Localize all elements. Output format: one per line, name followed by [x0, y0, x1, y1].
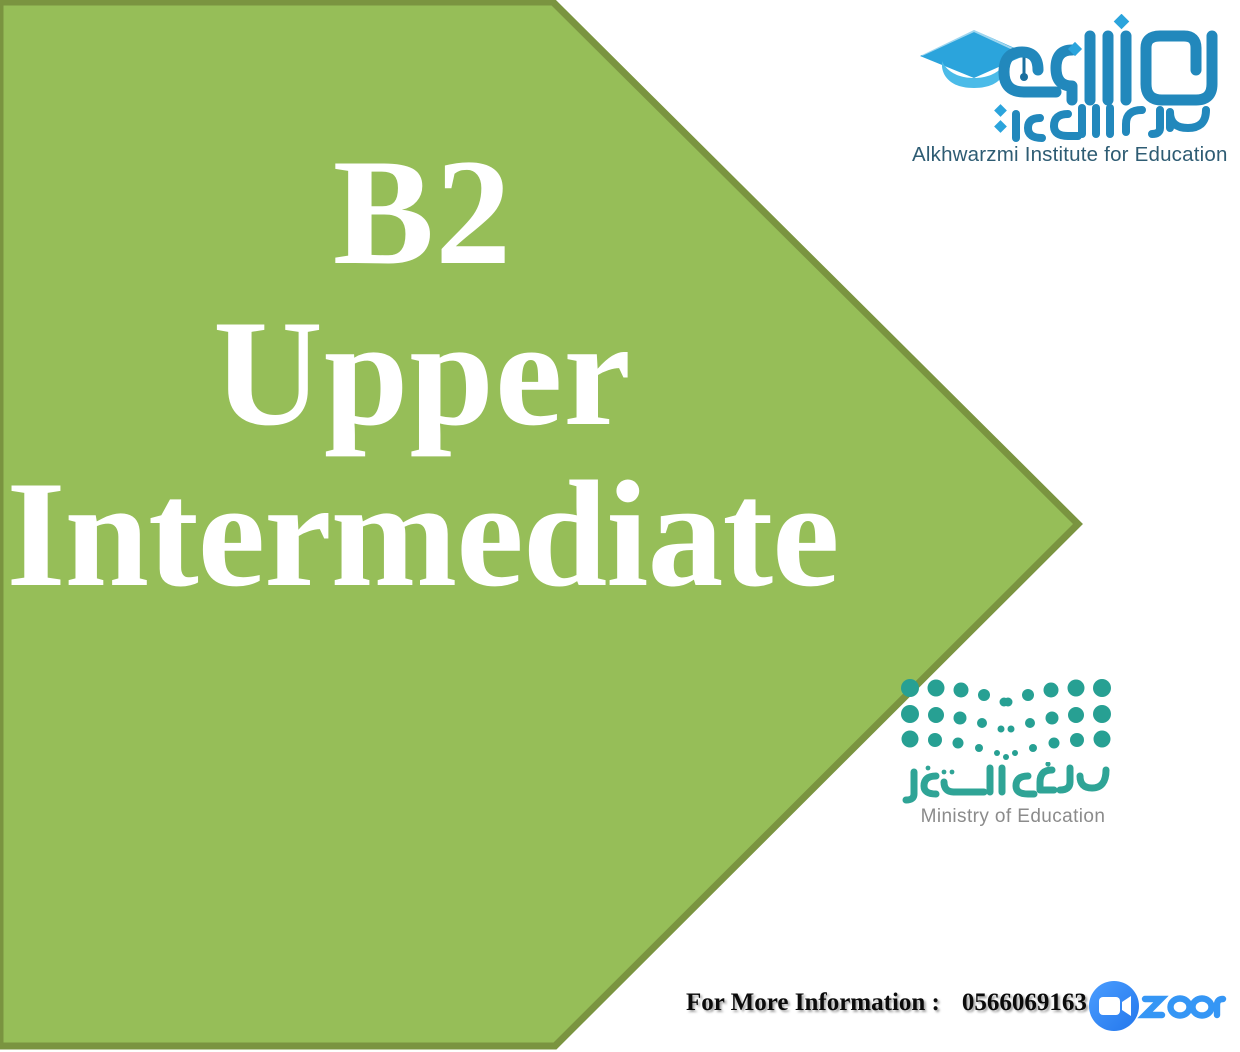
course-title-line-1: B2: [0, 138, 845, 287]
ministry-english-name: Ministry of Education: [898, 806, 1128, 828]
course-title-line-2: Upper: [0, 299, 845, 448]
contact-phone-number: 0566069163: [962, 989, 1087, 1017]
more-information-label: For More Information :: [686, 989, 940, 1017]
footer-contact: For More Information : 0566069163: [686, 989, 1087, 1017]
moe-dot-chevron-icon: [898, 676, 1114, 760]
course-title-line-3: Intermediate: [0, 460, 845, 609]
institute-logo: Alkhwarzmi Institute for Education: [912, 14, 1224, 167]
zoom-logo: [1087, 979, 1227, 1033]
poster-canvas: B2 Upper Intermediate: [0, 0, 1240, 1052]
ministry-arabic-wordmark: [898, 762, 1114, 804]
ministry-logo: Ministry of Education: [898, 676, 1128, 828]
institute-tagline: Alkhwarzmi Institute for Education: [912, 143, 1224, 167]
alkhwarzmi-logo-mark: [912, 14, 1224, 142]
zoom-wordmark: [1145, 999, 1223, 1016]
alkhwarzmi-arabic-subline: [1016, 108, 1206, 138]
alkhwarzmi-accent-dots: [994, 104, 1007, 133]
alkhwarzmi-arabic-wordmark: [1004, 36, 1212, 100]
zoom-video-camera-icon: [1089, 981, 1139, 1031]
alkhwarzmi-arabic-accents: [1068, 14, 1129, 56]
page-title: B2 Upper Intermediate: [0, 138, 845, 609]
